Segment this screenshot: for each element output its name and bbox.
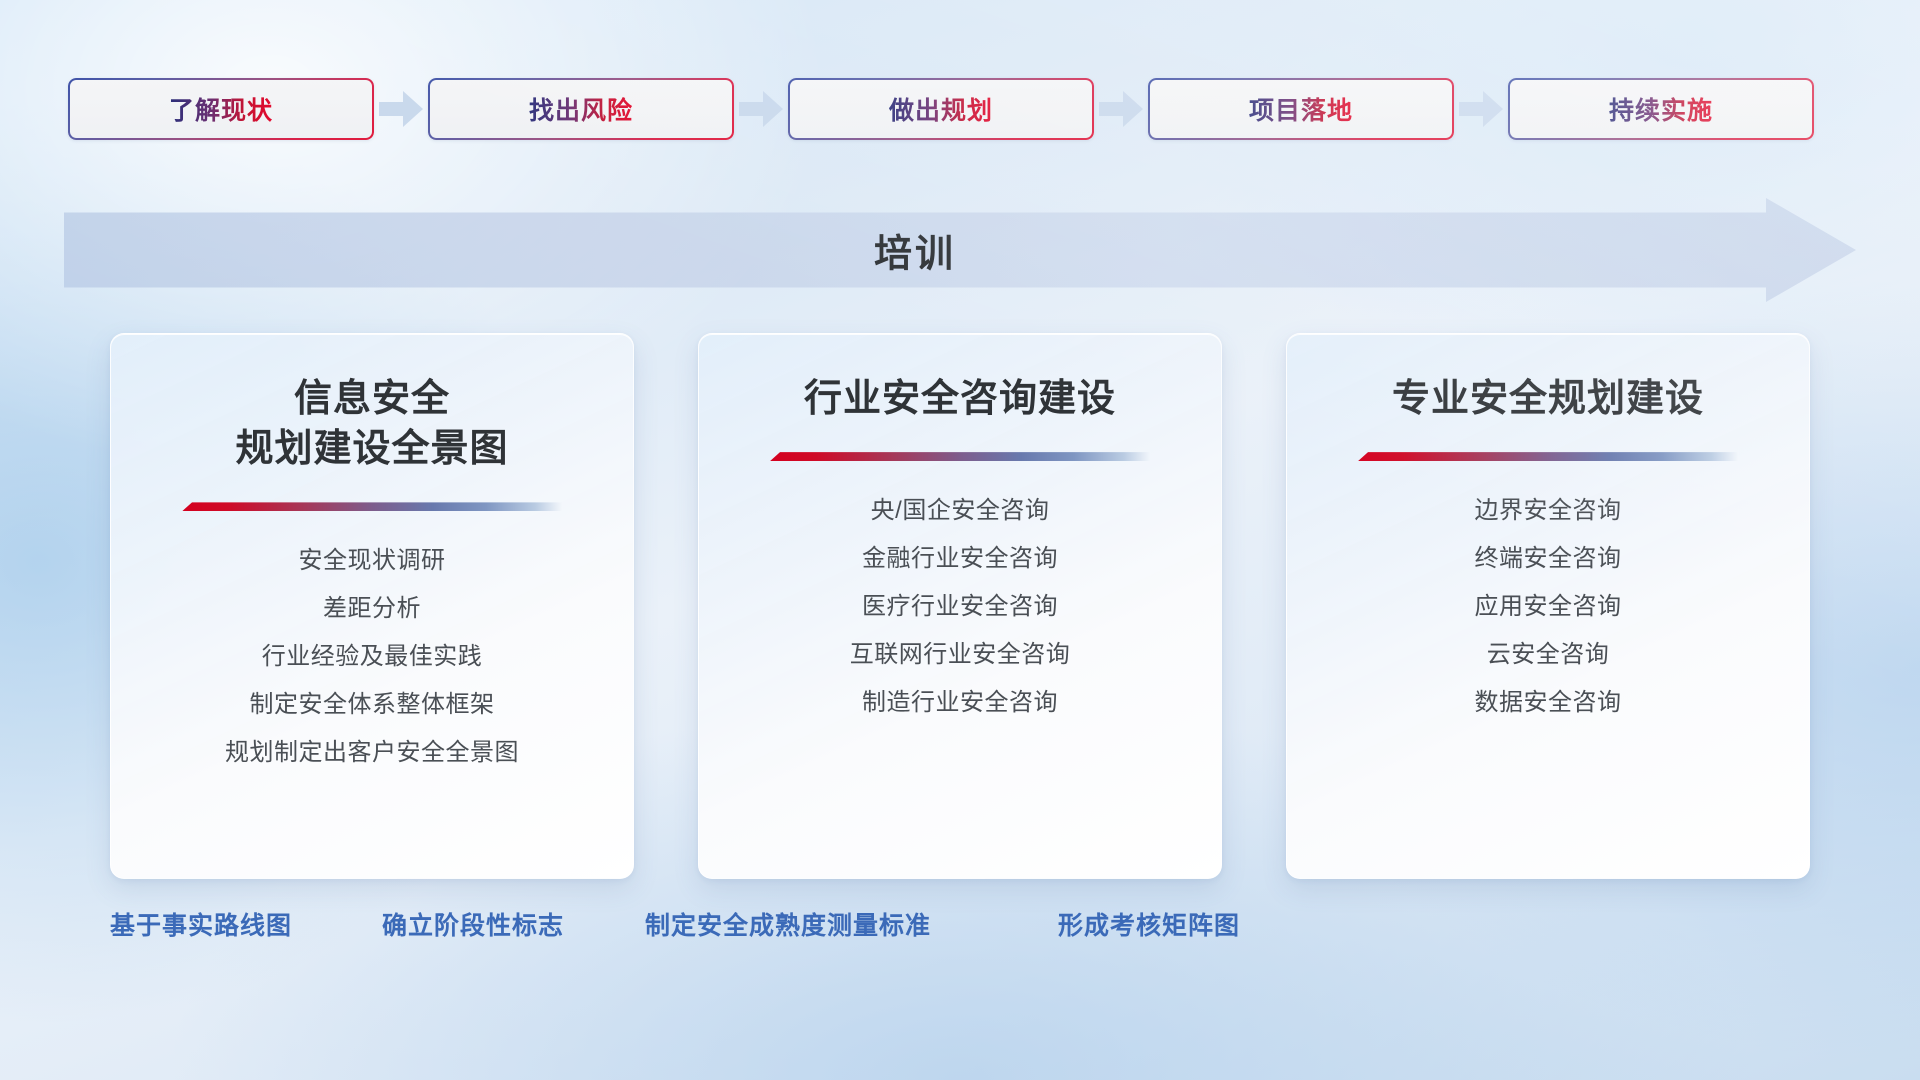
step-label-5: 持续实施 [1609,91,1713,127]
training-banner: 培训 [64,198,1856,302]
step-box-5[interactable]: 持续实施 [1508,78,1814,140]
caption-4: 形成考核矩阵图 [1058,906,1240,942]
list-item: 边界安全咨询 [1475,487,1622,535]
list-item: 云安全咨询 [1475,631,1622,679]
step-arrow-icon-2 [734,86,788,132]
list-item: 安全现状调研 [225,537,519,585]
step-box-2[interactable]: 找出风险 [428,78,734,140]
list-item: 应用安全咨询 [1475,583,1622,631]
card-1-divider [182,502,562,511]
card-1-list: 安全现状调研 差距分析 行业经验及最佳实践 制定安全体系整体框架 规划制定出客户… [225,537,519,777]
step-box-3[interactable]: 做出规划 [788,78,1094,140]
list-item: 互联网行业安全咨询 [850,631,1071,679]
list-item: 央/国企安全咨询 [850,487,1071,535]
banner-title: 培训 [64,223,1766,278]
list-item: 规划制定出客户安全全景图 [225,729,519,777]
list-item: 数据安全咨询 [1475,679,1622,727]
card-3[interactable]: 专业安全规划建设 边界安全咨询 终端安全咨询 应用安全咨询 云安全咨询 数据安全… [1286,333,1810,879]
step-label-1: 了解现状 [169,91,273,127]
list-item: 差距分析 [225,585,519,633]
card-3-divider [1358,452,1738,461]
card-row: 信息安全 规划建设全景图 安全现状调研 差距分析 行业经验及最佳实践 制定安全体… [110,333,1810,879]
step-label-2: 找出风险 [529,91,633,127]
list-item: 制造行业安全咨询 [850,679,1071,727]
slide-canvas: 了解现状 找出风险 做出规划 项目落地 [0,0,1920,1080]
list-item: 终端安全咨询 [1475,535,1622,583]
caption-2: 确立阶段性标志 [382,906,564,942]
card-2-divider [770,452,1150,461]
list-item: 金融行业安全咨询 [850,535,1071,583]
step-label-3: 做出规划 [889,91,993,127]
card-3-title: 专业安全规划建设 [1392,374,1704,424]
process-step-row: 了解现状 找出风险 做出规划 项目落地 [68,78,1858,140]
step-arrow-icon-1 [374,86,428,132]
caption-row: 基于事实路线图 确立阶段性标志 制定安全成熟度测量标准 形成考核矩阵图 [0,906,1920,952]
card-2[interactable]: 行业安全咨询建设 央/国企安全咨询 金融行业安全咨询 医疗行业安全咨询 互联网行… [698,333,1222,879]
card-2-list: 央/国企安全咨询 金融行业安全咨询 医疗行业安全咨询 互联网行业安全咨询 制造行… [850,487,1071,727]
list-item: 制定安全体系整体框架 [225,681,519,729]
step-arrow-icon-3 [1094,86,1148,132]
card-1[interactable]: 信息安全 规划建设全景图 安全现状调研 差距分析 行业经验及最佳实践 制定安全体… [110,333,634,879]
step-label-4: 项目落地 [1249,91,1353,127]
step-box-4[interactable]: 项目落地 [1148,78,1454,140]
step-arrow-icon-4 [1454,86,1508,132]
card-3-list: 边界安全咨询 终端安全咨询 应用安全咨询 云安全咨询 数据安全咨询 [1475,487,1622,727]
card-2-title: 行业安全咨询建设 [804,374,1116,424]
card-1-title: 信息安全 规划建设全景图 [235,374,508,474]
list-item: 医疗行业安全咨询 [850,583,1071,631]
list-item: 行业经验及最佳实践 [225,633,519,681]
caption-1: 基于事实路线图 [110,906,292,942]
caption-3: 制定安全成熟度测量标准 [645,906,931,942]
step-box-1[interactable]: 了解现状 [68,78,374,140]
